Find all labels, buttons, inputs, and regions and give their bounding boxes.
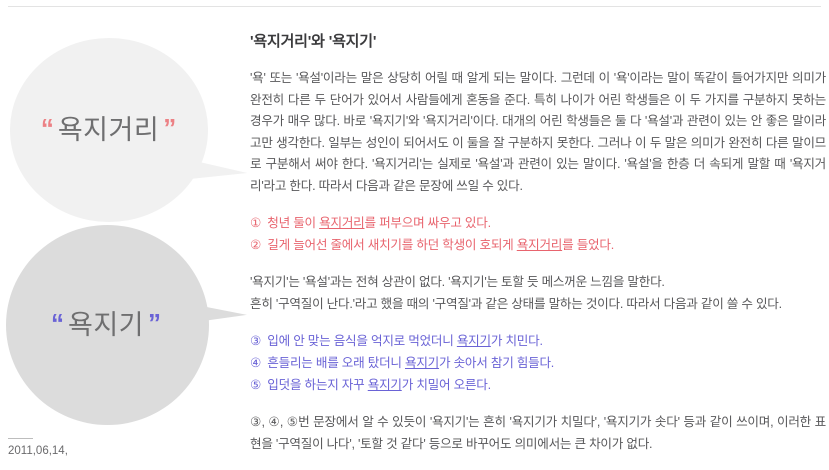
bubble-term-yokjigeori: 욕지거리: [58, 115, 159, 145]
example-yokjigeori-item: ② 길게 늘어선 줄에서 새치기를 하던 학생이 호되게 욕지거리를 들었다.: [250, 234, 826, 256]
page-title: '욕지거리'와 '욕지기': [250, 30, 826, 51]
highlighted-keyword: 욕지기: [368, 378, 402, 392]
example-list-yokjigi: ③ 입에 안 맞는 음식을 억지로 먹었더니 욕지기가 치민다.④ 흔들리는 배…: [250, 330, 826, 396]
list-marker: ⑤: [250, 378, 261, 392]
sentence-after: 가 솟아서 참기 힘들다.: [439, 356, 554, 370]
sentence-before: 청년 둘이: [264, 216, 319, 230]
example-yokjigi-item: ⑤ 입덧을 하는지 자꾸 욕지기가 치밀어 오른다.: [250, 374, 826, 396]
sentence-after: 가 치민다.: [491, 334, 543, 348]
highlighted-keyword: 욕지기: [405, 356, 439, 370]
sentence-before: 입덧을 하는지 자꾸: [264, 378, 368, 392]
speech-bubble-yokjigi: “욕지기”: [6, 225, 209, 425]
footer: 2011,06,14,: [8, 438, 248, 457]
definition-line-2: 흔히 '구역질이 난다.'라고 했을 때의 '구역질'과 같은 상태를 말하는 …: [250, 297, 782, 311]
paragraph-yokjigi-definition: '욕지기'는 '욕설'과는 전혀 상관이 없다. '욕지기'는 토할 듯 메스꺼…: [250, 272, 826, 315]
open-quote-icon: “: [41, 113, 53, 143]
bubble-term-yokjigi: 욕지기: [68, 310, 144, 340]
bubble-label-yokjigeori: “욕지거리”: [41, 108, 175, 147]
example-yokjigeori-item: ① 청년 둘이 욕지거리를 퍼부으며 싸우고 있다.: [250, 212, 826, 234]
sentence-after: 를 들었다.: [562, 238, 614, 252]
sentence-before: 흔들리는 배를 오래 탔더니: [264, 356, 405, 370]
example-yokjigi-item: ④ 흔들리는 배를 오래 탔더니 욕지기가 솟아서 참기 힘들다.: [250, 352, 826, 374]
top-divider: [8, 6, 821, 7]
speech-bubble-illustration: “욕지거리” “욕지기”: [0, 14, 240, 434]
list-marker: ①: [250, 216, 261, 230]
speech-bubble-yokjigeori: “욕지거리”: [10, 38, 208, 222]
sentence-before: 입에 안 맞는 음식을 억지로 먹었더니: [264, 334, 457, 348]
highlighted-keyword: 욕지거리: [319, 216, 364, 230]
close-quote-icon: ”: [148, 308, 160, 338]
paragraph-summary: ③, ④, ⑤번 문장에서 알 수 있듯이 '욕지기'는 흔히 '욕지기가 치밀…: [250, 412, 826, 455]
article-body: '욕지거리'와 '욕지기' '욕' 또는 '욕설'이라는 말은 상당히 어릴 때…: [250, 30, 826, 470]
definition-line-1: '욕지기'는 '욕설'과는 전혀 상관이 없다. '욕지기'는 토할 듯 메스꺼…: [250, 275, 665, 289]
footer-divider: [8, 438, 33, 439]
sentence-after: 가 치밀어 오른다.: [402, 378, 491, 392]
sentence-after: 를 퍼부으며 싸우고 있다.: [365, 216, 491, 230]
sentence-before: 길게 늘어선 줄에서 새치기를 하던 학생이 호되게: [264, 238, 517, 252]
highlighted-keyword: 욕지거리: [517, 238, 562, 252]
list-marker: ④: [250, 356, 261, 370]
list-marker: ②: [250, 238, 261, 252]
publish-date: 2011,06,14,: [8, 445, 248, 457]
highlighted-keyword: 욕지기: [457, 334, 491, 348]
paragraph-intro: '욕' 또는 '욕설'이라는 말은 상당히 어릴 때 알게 되는 말이다. 그런…: [250, 68, 826, 197]
example-list-yokjigeori: ① 청년 둘이 욕지거리를 퍼부으며 싸우고 있다.② 길게 늘어선 줄에서 새…: [250, 212, 826, 256]
example-yokjigi-item: ③ 입에 안 맞는 음식을 억지로 먹었더니 욕지기가 치민다.: [250, 330, 826, 352]
bubble-label-yokjigi: “욕지기”: [51, 303, 160, 342]
open-quote-icon: “: [51, 308, 63, 338]
close-quote-icon: ”: [163, 113, 175, 143]
list-marker: ③: [250, 334, 261, 348]
